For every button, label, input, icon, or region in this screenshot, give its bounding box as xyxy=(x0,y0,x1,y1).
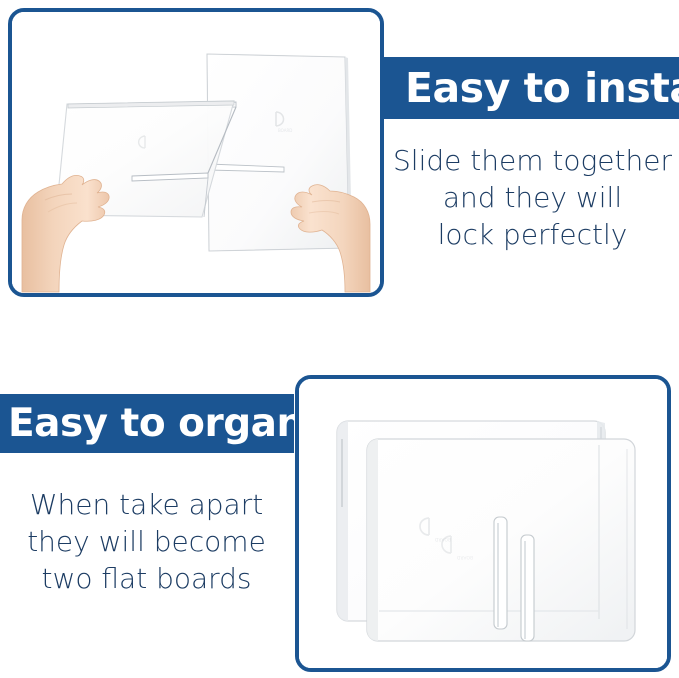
install-caption-line-3: lock perfectly xyxy=(390,217,675,254)
board-slot-right xyxy=(521,535,534,641)
board-slot-left xyxy=(494,517,507,629)
install-banner-label: Easy to install xyxy=(405,68,679,109)
install-photo: BOARD xyxy=(12,12,380,293)
install-caption-line-2: and they will xyxy=(390,180,675,217)
install-caption: Slide them together and they will lock p… xyxy=(390,143,675,254)
organize-photo: BOARD BOARD xyxy=(299,379,667,668)
front-flat-board: BOARD BOARD xyxy=(367,439,635,641)
install-photo-art: BOARD xyxy=(12,12,380,293)
organize-caption: When take apart they will become two fla… xyxy=(8,487,285,598)
svg-text:BOARD: BOARD xyxy=(278,128,292,133)
organize-caption-line-1: When take apart xyxy=(8,487,285,524)
organize-photo-art: BOARD BOARD xyxy=(299,379,667,668)
organize-caption-line-2: they will become xyxy=(8,524,285,561)
organize-caption-line-3: two flat boards xyxy=(8,561,285,598)
svg-text:BOARD: BOARD xyxy=(456,554,473,560)
install-caption-line-1: Slide them together xyxy=(390,143,675,180)
install-banner: Easy to install xyxy=(383,57,679,119)
organize-banner: Easy to organize xyxy=(0,394,294,453)
install-photo-frame: BOARD xyxy=(8,8,384,297)
organize-photo-frame: BOARD BOARD xyxy=(295,375,671,672)
